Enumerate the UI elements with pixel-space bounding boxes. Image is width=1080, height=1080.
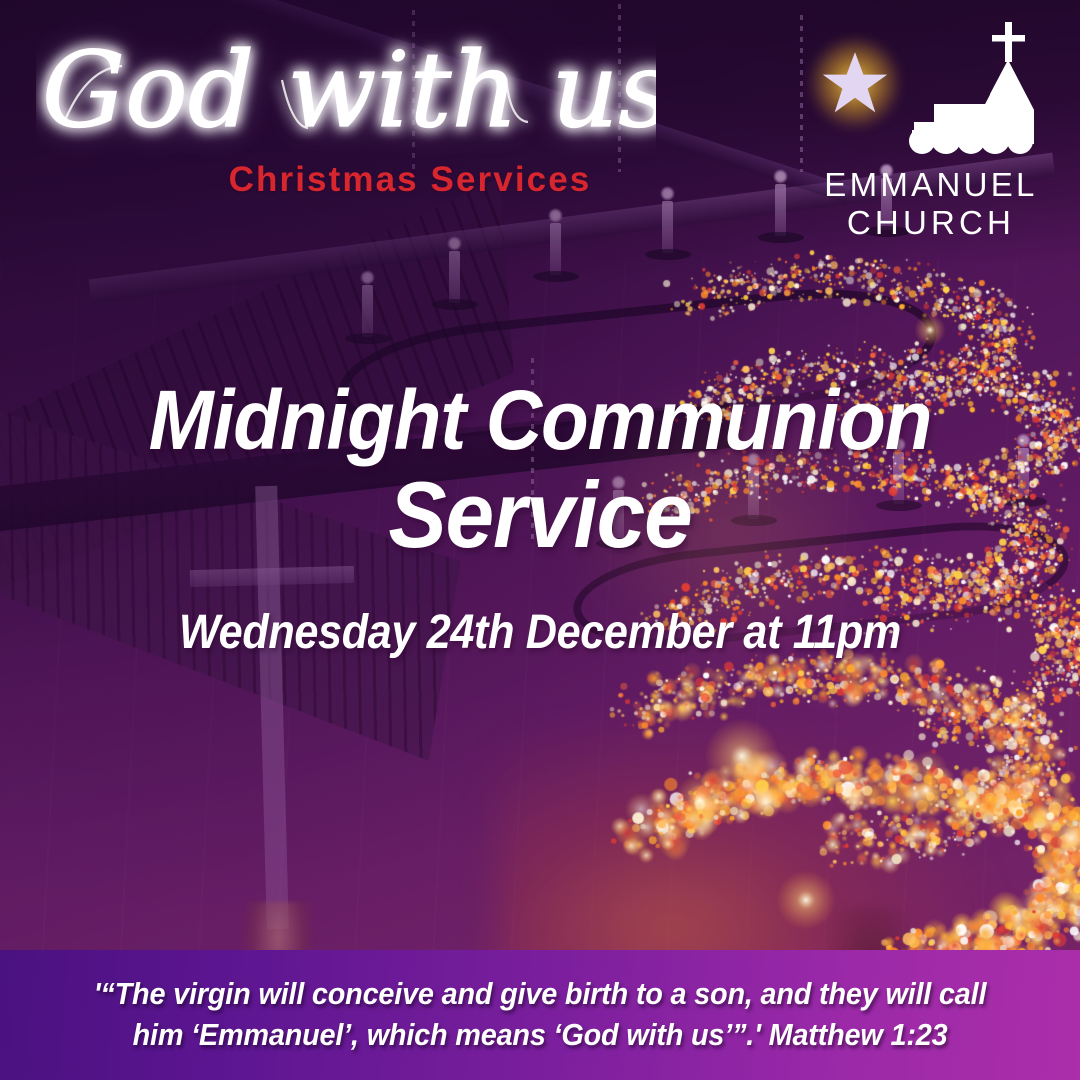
logo-line-2: CHURCH — [808, 204, 1054, 242]
christmas-service-poster: God with us God with us Christmas Servic… — [0, 0, 1080, 1080]
title-line-1: Midnight Communion — [38, 378, 1042, 462]
svg-text:God with us: God with us — [42, 29, 656, 151]
subtitle-christmas-services: Christmas Services — [200, 160, 620, 200]
service-datetime: Wednesday 24th December at 11pm — [54, 605, 1026, 660]
star-icon — [820, 48, 890, 118]
church-with-cross-icon — [892, 18, 1052, 168]
scripture-text: '“The virgin will conceive and give birt… — [38, 974, 1042, 1056]
neon-headline: God with us God with us — [36, 22, 656, 162]
logo-wordmark: EMMANUEL CHURCH — [808, 166, 1054, 243]
main-titles: Midnight Communion Service Wednesday 24t… — [0, 378, 1080, 660]
emmanuel-church-logo: EMMANUEL CHURCH — [808, 18, 1058, 240]
scripture-banner: '“The virgin will conceive and give birt… — [0, 950, 1080, 1080]
title-line-2: Service — [38, 462, 1042, 567]
logo-line-1: EMMANUEL — [824, 166, 1037, 203]
